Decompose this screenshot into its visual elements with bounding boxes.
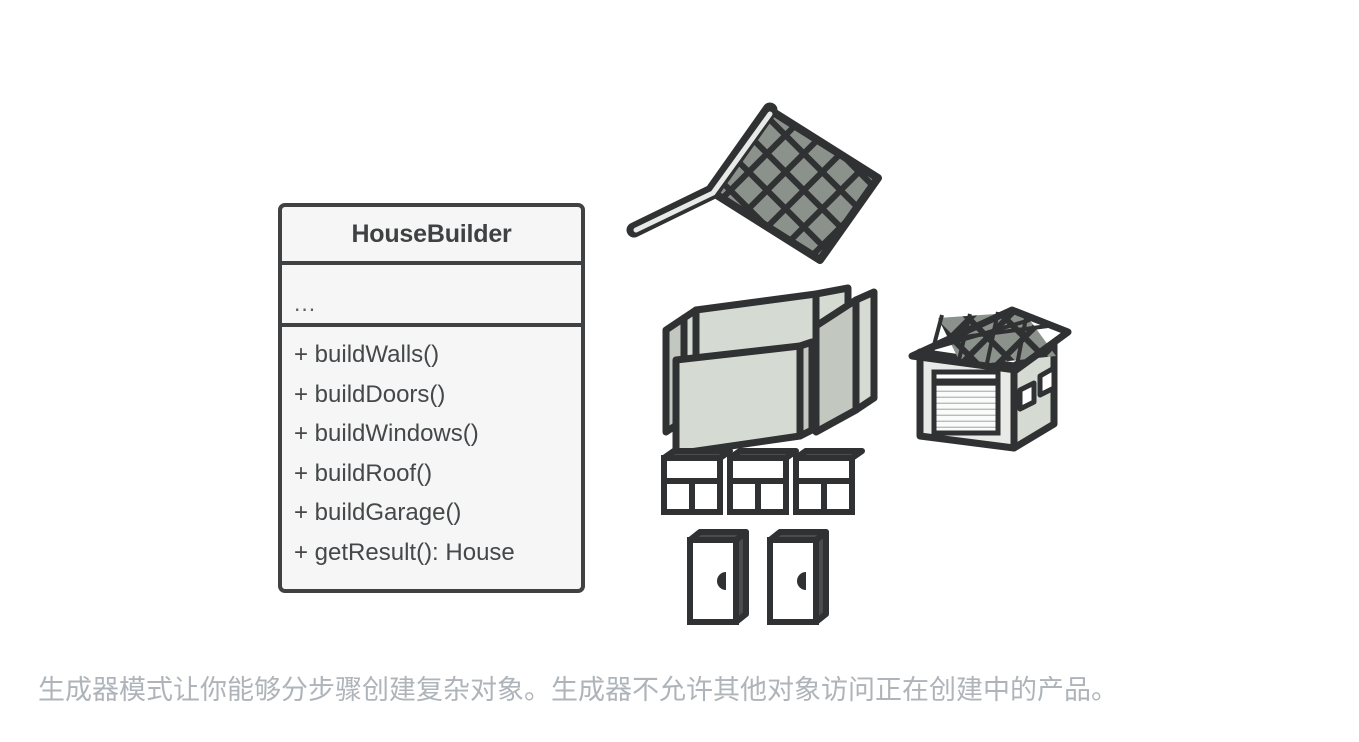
door-part-1 bbox=[690, 532, 746, 622]
roof-panel-part bbox=[634, 100, 900, 280]
window-part-2 bbox=[730, 451, 796, 512]
doors-row bbox=[690, 532, 826, 622]
garage-part bbox=[912, 300, 1080, 448]
uml-method-build-doors: + buildDoors() bbox=[294, 375, 581, 415]
uml-method-build-walls: + buildWalls() bbox=[294, 335, 581, 375]
uml-attributes-compartment: ... bbox=[282, 265, 581, 327]
windows-row bbox=[664, 451, 862, 512]
window-part-3 bbox=[796, 451, 862, 512]
diagram-canvas: HouseBuilder ... + buildWalls() + buildD… bbox=[0, 0, 1359, 742]
walls-part bbox=[666, 288, 874, 454]
uml-method-build-roof: + buildRoof() bbox=[294, 454, 581, 494]
uml-title-compartment: HouseBuilder bbox=[282, 207, 581, 265]
uml-method-build-garage: + buildGarage() bbox=[294, 493, 581, 533]
uml-methods-compartment: + buildWalls() + buildDoors() + buildWin… bbox=[282, 327, 581, 589]
window-part-1 bbox=[664, 451, 730, 512]
uml-method-build-windows: + buildWindows() bbox=[294, 414, 581, 454]
wall-front bbox=[676, 342, 812, 454]
door-part-2 bbox=[770, 532, 826, 622]
uml-method-get-result: + getResult(): House bbox=[294, 533, 581, 573]
house-parts-illustration bbox=[620, 80, 1120, 660]
uml-attributes-placeholder: ... bbox=[294, 292, 316, 315]
caption-text: 生成器模式让你能够分步骤创建复杂对象。生成器不允许其他对象访问正在创建中的产品。 bbox=[38, 668, 1118, 707]
uml-class-name: HouseBuilder bbox=[351, 220, 511, 249]
uml-class-box: HouseBuilder ... + buildWalls() + buildD… bbox=[278, 203, 585, 593]
